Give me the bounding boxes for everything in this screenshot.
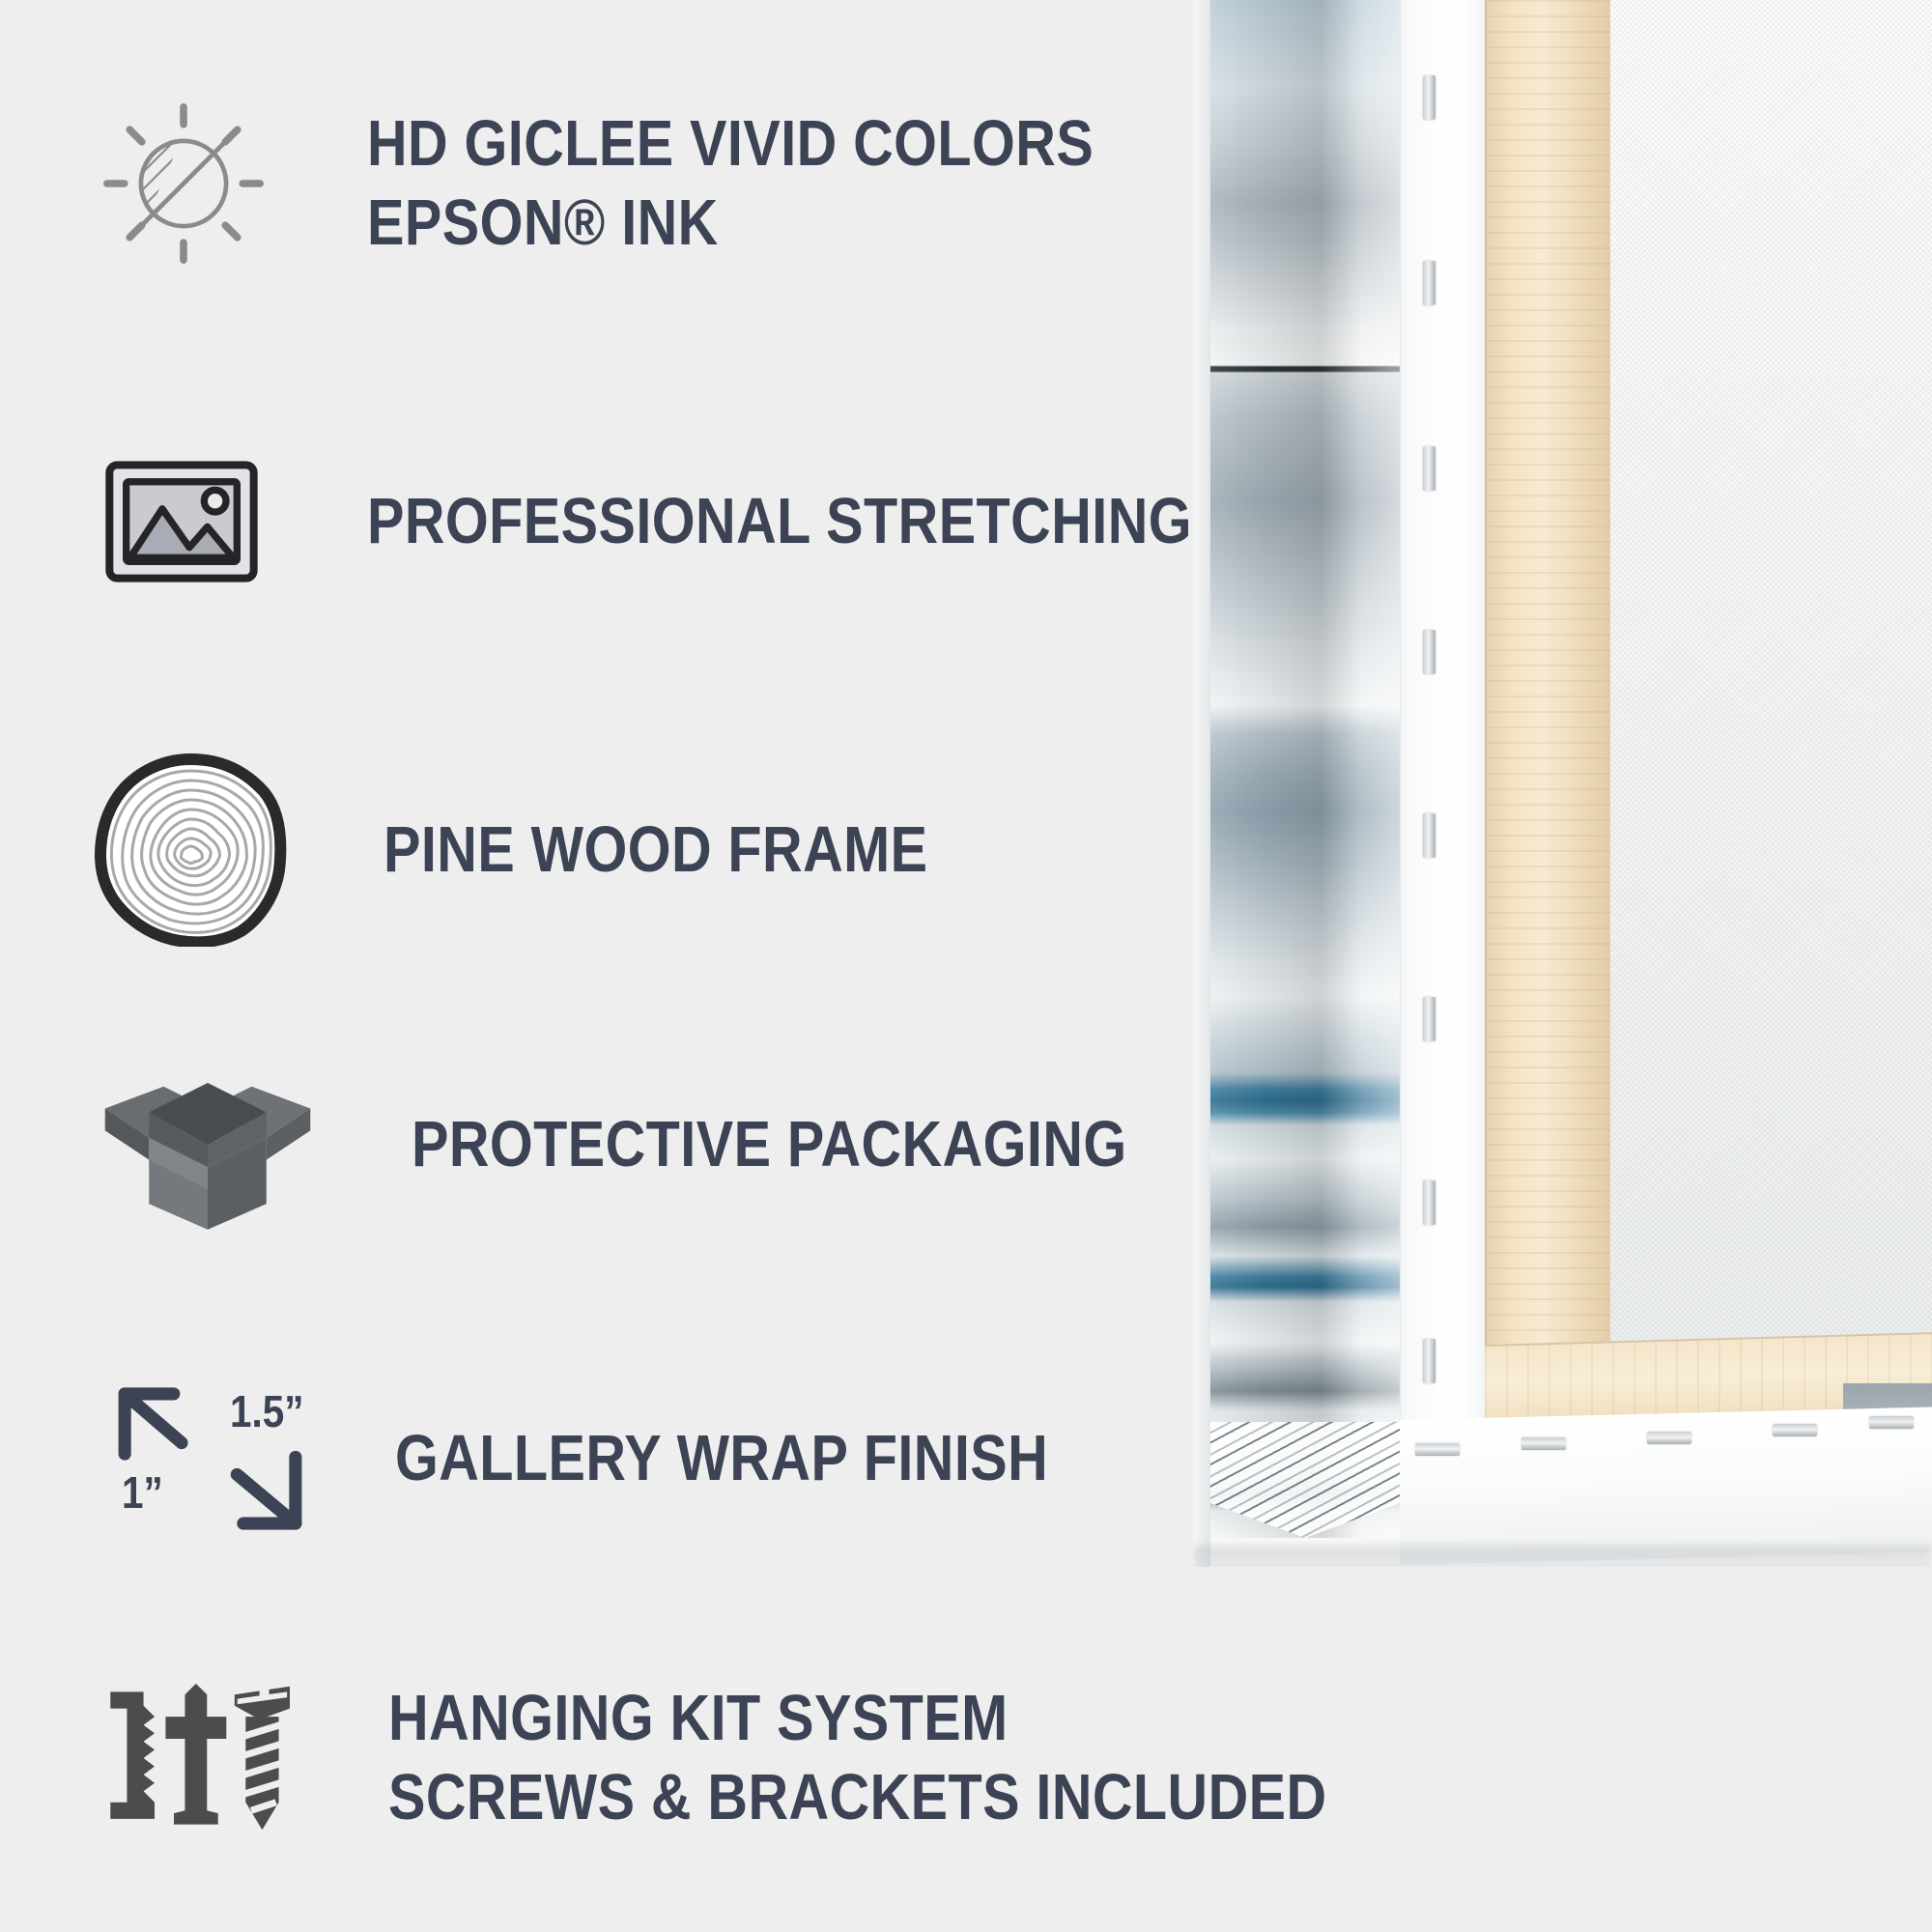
staple xyxy=(1869,1416,1914,1429)
staple xyxy=(1647,1432,1691,1444)
feature-row-hd-giclee: HD GICLEE VIVID COLORS EPSON® INK xyxy=(97,92,1121,275)
feature-label-line1: HD GICLEE VIVID COLORS xyxy=(367,111,1094,177)
picture-frame-icon xyxy=(104,454,259,589)
staple xyxy=(1423,997,1435,1041)
canvas-back-detail-photo xyxy=(1193,0,1932,1567)
staple xyxy=(1423,261,1435,305)
staple xyxy=(1521,1437,1566,1450)
feature-label-line1: GALLERY WRAP FINISH xyxy=(395,1426,1048,1492)
feature-row-gallery-wrap-finish: 1.5” 1” GALLERY WRAP FINISH xyxy=(106,1367,1198,1550)
feature-row-hanging-kit: HANGING KIT SYSTEM SCREWS & BRACKETS INC… xyxy=(97,1652,1304,1864)
feature-row-professional-stretching: PROFESSIONAL STRETCHING xyxy=(104,444,1128,599)
feature-label-line2: SCREWS & BRACKETS INCLUDED xyxy=(388,1765,1327,1831)
staple xyxy=(1423,813,1435,858)
pine-stretcher-bar-vertical xyxy=(1485,0,1610,1435)
photo-drop-shadow xyxy=(1193,1546,1932,1567)
staple xyxy=(1423,1180,1435,1225)
staple xyxy=(1423,446,1435,491)
feature-row-protective-packaging: PROTECTIVE PACKAGING xyxy=(97,1038,1188,1251)
hardware-icon xyxy=(97,1671,290,1845)
staple xyxy=(1423,630,1435,674)
feature-label-line1: HANGING KIT SYSTEM xyxy=(388,1686,1327,1751)
dimension-arrows-icon: 1.5” 1” xyxy=(106,1372,314,1546)
tree-rings-icon xyxy=(92,753,290,947)
gallery-wrap-depth-label: 1.5” xyxy=(230,1385,304,1437)
feature-label-line1: PINE WOOD FRAME xyxy=(384,817,927,883)
staple xyxy=(1423,75,1435,120)
feature-label-line2: EPSON® INK xyxy=(367,190,1094,256)
canvas-white-return xyxy=(1400,0,1486,1555)
feature-label-line1: PROFESSIONAL STRETCHING xyxy=(367,489,1192,554)
gallery-wrap-width-label: 1” xyxy=(122,1466,163,1519)
sun-icon xyxy=(97,97,270,270)
staple xyxy=(1773,1424,1817,1436)
open-box-icon xyxy=(97,1046,319,1244)
staple xyxy=(1423,1339,1435,1383)
feature-label-line1: PROTECTIVE PACKAGING xyxy=(412,1112,1127,1178)
infographic-canvas: HD GICLEE VIVID COLORS EPSON® INK PROFES… xyxy=(0,0,1932,1932)
staple xyxy=(1415,1443,1460,1456)
raw-canvas-backing xyxy=(1608,0,1932,1352)
feature-row-pine-wood-frame: PINE WOOD FRAME xyxy=(92,749,1116,952)
canvas-wrapped-edge xyxy=(1210,0,1400,1538)
